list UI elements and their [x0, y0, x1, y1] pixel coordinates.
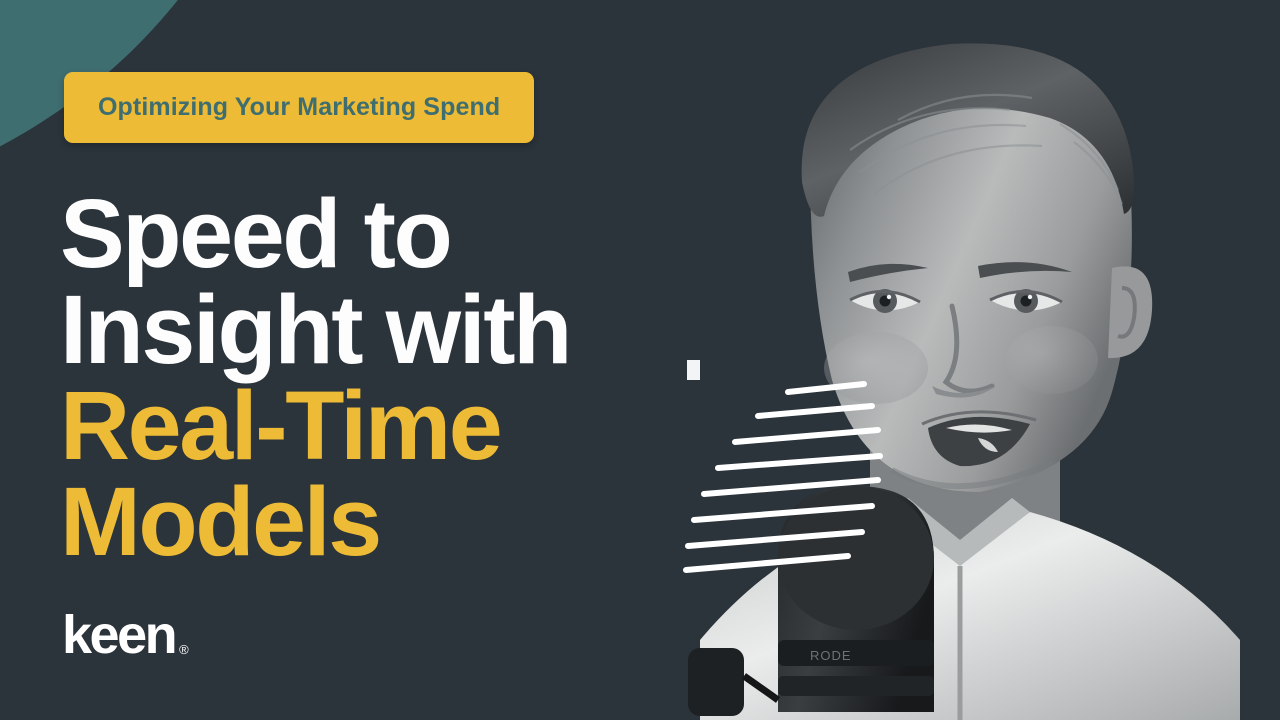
headline-line-4: Models [60, 474, 720, 570]
page-title: Speed to Insight with Real-Time Models [60, 186, 720, 570]
svg-text:RODE: RODE [810, 648, 852, 663]
text-content-column: Optimizing Your Marketing Spend Speed to… [0, 0, 720, 720]
video-thumbnail-canvas: RODE Optimizing Your Marketing Spend [0, 0, 1280, 720]
registered-trademark-icon: ® [179, 643, 189, 656]
speaker-portrait-photo: RODE [660, 0, 1280, 720]
headline-line-1: Speed to [60, 186, 720, 282]
portrait-illustration: RODE [660, 0, 1280, 720]
headline-line-2: Insight with [60, 282, 720, 378]
episode-topic-label: Optimizing Your Marketing Spend [98, 93, 500, 122]
logo-wordmark: keen [62, 608, 175, 662]
episode-topic-badge: Optimizing Your Marketing Spend [64, 72, 534, 143]
headline-line-3: Real-Time [60, 378, 720, 474]
keen-brand-logo: keen ® [62, 608, 189, 662]
